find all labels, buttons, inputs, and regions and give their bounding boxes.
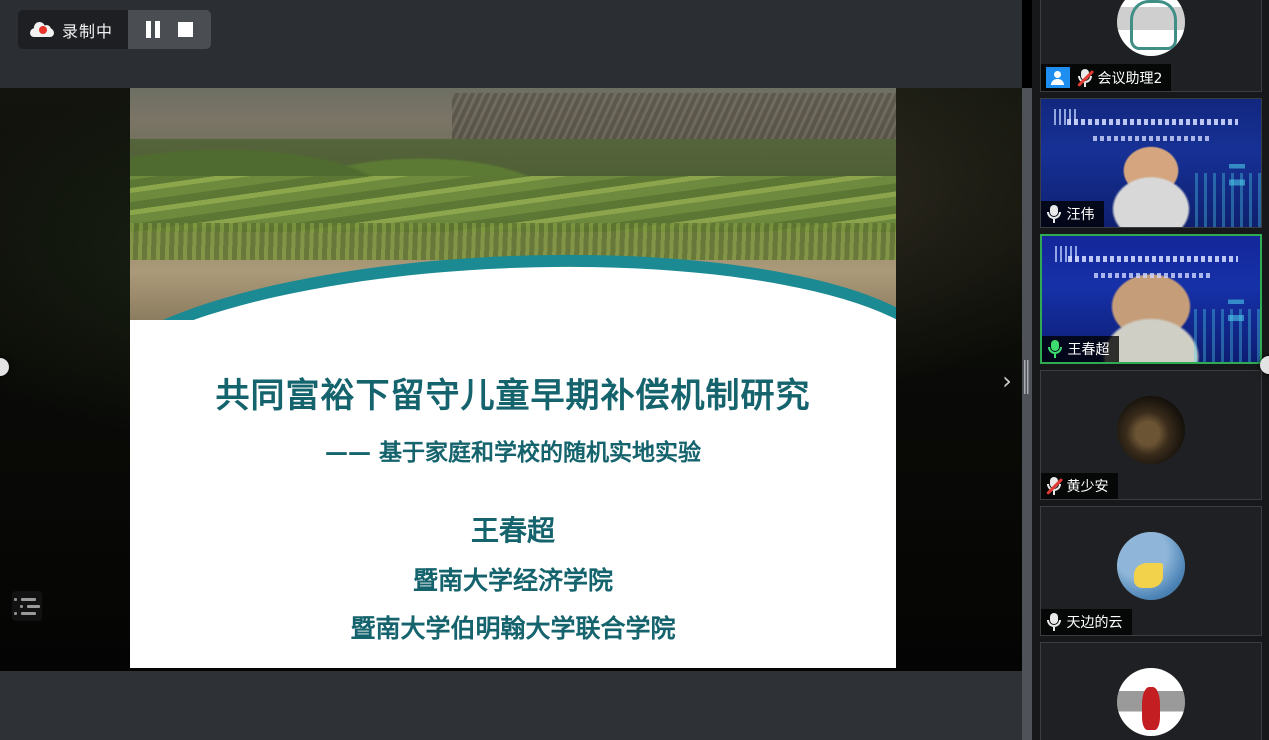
- drag-grip-icon: [1024, 360, 1030, 394]
- mic-muted-icon: [1077, 69, 1093, 87]
- slide-author: 王春超: [130, 509, 896, 549]
- mic-on-icon: [1046, 613, 1062, 631]
- participant-tile[interactable]: [1040, 642, 1262, 740]
- cloud-record-icon: [30, 22, 54, 37]
- slide-header-photo: [130, 88, 896, 320]
- top-toolbar: 录制中: [0, 0, 1022, 88]
- person-icon: [1046, 67, 1070, 88]
- mic-active-icon: [1047, 340, 1063, 358]
- pause-icon[interactable]: [146, 21, 160, 38]
- participant-tile[interactable]: 天边的云: [1040, 506, 1262, 636]
- recording-controls: 录制中: [18, 10, 211, 49]
- panel-drag-handle[interactable]: [1022, 88, 1032, 740]
- chevron-right-icon[interactable]: ›: [998, 366, 1016, 396]
- recording-status-badge: 录制中: [18, 10, 128, 49]
- meeting-window: 录制中: [0, 0, 1269, 740]
- slide-text-body: 共同富裕下留守儿童早期补偿机制研究 —— 基于家庭和学校的随机实地实验 王春超 …: [130, 368, 896, 668]
- presentation-slide: 共同富裕下留守儿童早期补偿机制研究 —— 基于家庭和学校的随机实地实验 王春超 …: [130, 88, 896, 668]
- participant-label: 王春超: [1042, 336, 1119, 362]
- slide-affiliation-2: 暨南大学伯明翰大学联合学院: [130, 609, 896, 645]
- shared-screen-stage[interactable]: 共同富裕下留守儿童早期补偿机制研究 —— 基于家庭和学校的随机实地实验 王春超 …: [0, 88, 1022, 671]
- avatar: [1117, 396, 1185, 464]
- participant-label: 会议助理2: [1041, 64, 1172, 91]
- outline-list-icon[interactable]: [12, 591, 42, 621]
- recording-label: 录制中: [62, 18, 113, 42]
- participant-tile-active-speaker[interactable]: 王春超: [1040, 234, 1262, 364]
- slide-subtitle: —— 基于家庭和学校的随机实地实验: [130, 433, 896, 467]
- participant-tile[interactable]: 会议助理2: [1040, 0, 1262, 92]
- participant-name: 天边的云: [1067, 612, 1123, 632]
- stop-icon[interactable]: [178, 22, 193, 37]
- participant-tile[interactable]: 黄少安: [1040, 370, 1262, 500]
- avatar: [1117, 532, 1185, 600]
- avatar: [1117, 0, 1185, 56]
- recording-buttons: [128, 10, 211, 49]
- participant-name: 汪伟: [1067, 204, 1095, 224]
- participant-name: 王春超: [1068, 339, 1110, 359]
- mic-muted-icon: [1046, 477, 1062, 495]
- participant-panel[interactable]: 会议助理2 汪伟: [1032, 0, 1269, 740]
- participant-label: 天边的云: [1041, 609, 1132, 635]
- slide-affiliation-1: 暨南大学经济学院: [130, 561, 896, 597]
- participant-tile[interactable]: 汪伟: [1040, 98, 1262, 228]
- participant-label: 黄少安: [1041, 473, 1118, 499]
- participant-label: 汪伟: [1041, 201, 1104, 227]
- participant-name: 会议助理2: [1098, 68, 1163, 88]
- mic-on-icon: [1046, 205, 1062, 223]
- stage-bottom-bar: [0, 671, 1022, 740]
- participant-name: 黄少安: [1067, 476, 1109, 496]
- slide-title: 共同富裕下留守儿童早期补偿机制研究: [130, 368, 896, 417]
- avatar: [1117, 668, 1185, 736]
